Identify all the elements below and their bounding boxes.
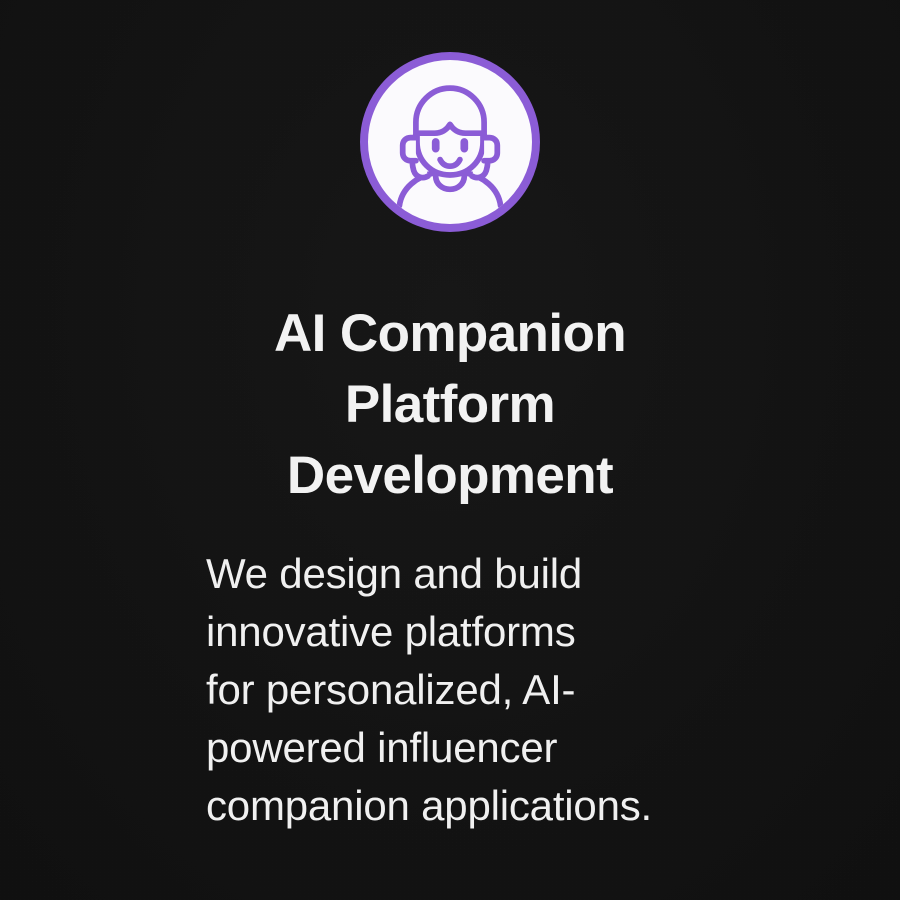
avatar-badge bbox=[360, 52, 540, 232]
description-line-1: We design and build bbox=[206, 545, 746, 603]
service-card: AI Companion Platform Development We des… bbox=[0, 0, 900, 900]
female-avatar-icon bbox=[384, 76, 516, 208]
description-line-3: for personalized, AI- bbox=[206, 661, 746, 719]
title-line-3: Development bbox=[120, 440, 780, 511]
title-line-2: Platform bbox=[120, 369, 780, 440]
description-line-5: companion applications. bbox=[206, 777, 746, 835]
page-title: AI Companion Platform Development bbox=[0, 298, 900, 511]
title-line-1: AI Companion bbox=[120, 298, 780, 369]
description-line-4: powered influencer bbox=[206, 719, 746, 777]
description-line-2: innovative platforms bbox=[206, 603, 746, 661]
description-text: We design and build innovative platforms… bbox=[206, 545, 746, 835]
